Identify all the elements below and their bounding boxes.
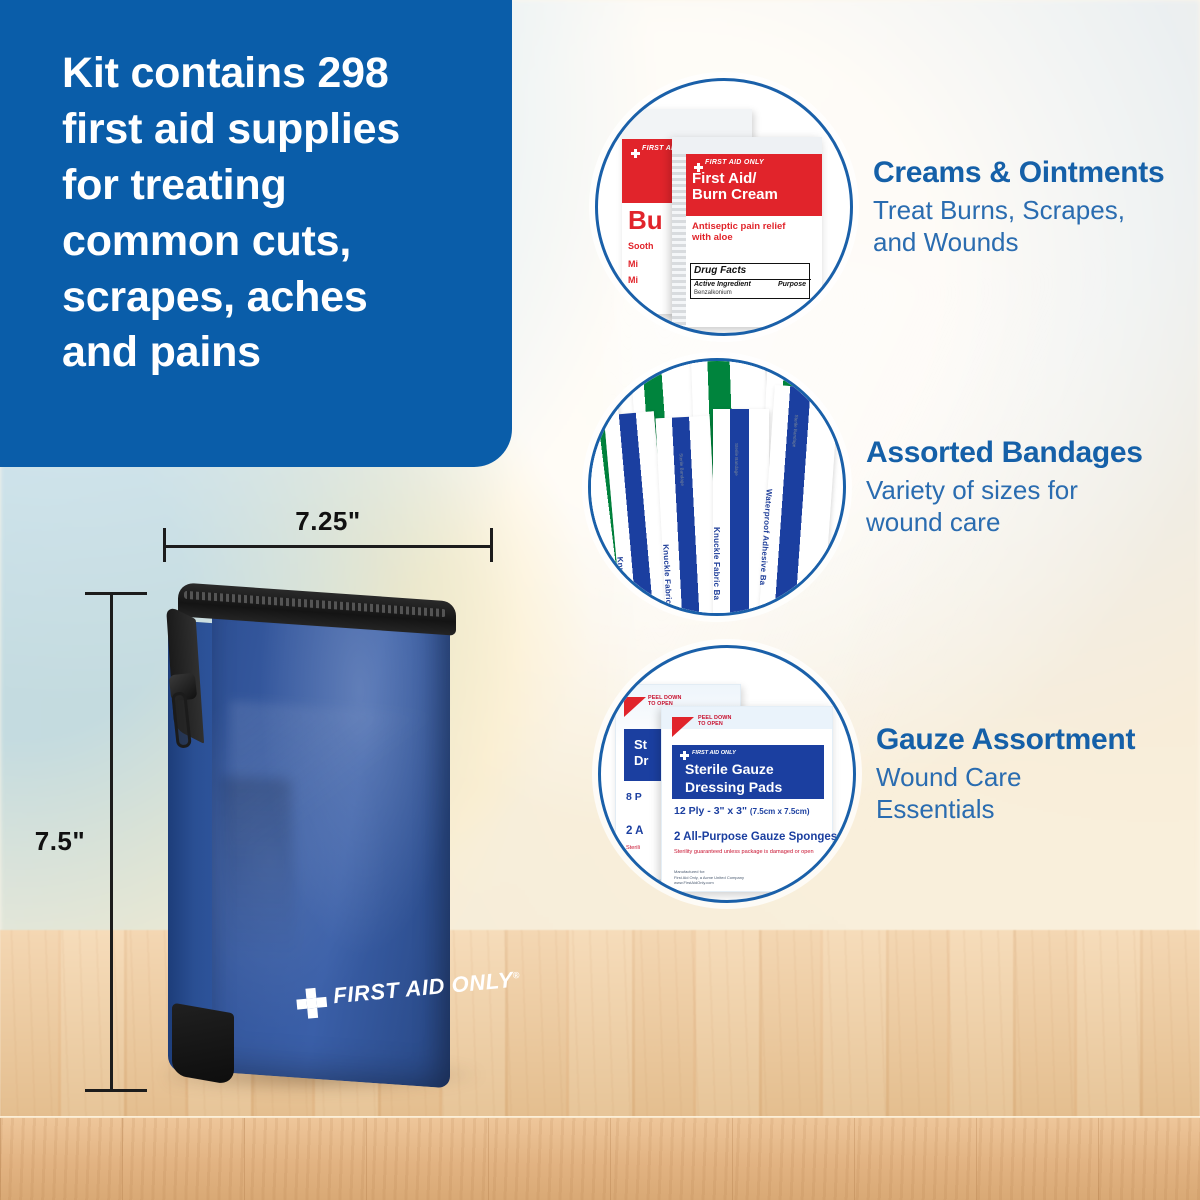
height-dimension-line: [110, 592, 113, 1092]
width-dimension-line: [163, 545, 493, 548]
width-dimension-cap-left: [163, 528, 166, 562]
width-dimension-cap-right: [490, 528, 493, 562]
height-dimension-label: 7.5": [16, 826, 104, 857]
height-dimension-cap-top: [85, 592, 147, 595]
dimension-annotations: 7.25" 7.5": [0, 0, 1200, 1200]
height-dimension-cap-bottom: [85, 1089, 147, 1092]
width-dimension-label: 7.25": [163, 506, 493, 537]
